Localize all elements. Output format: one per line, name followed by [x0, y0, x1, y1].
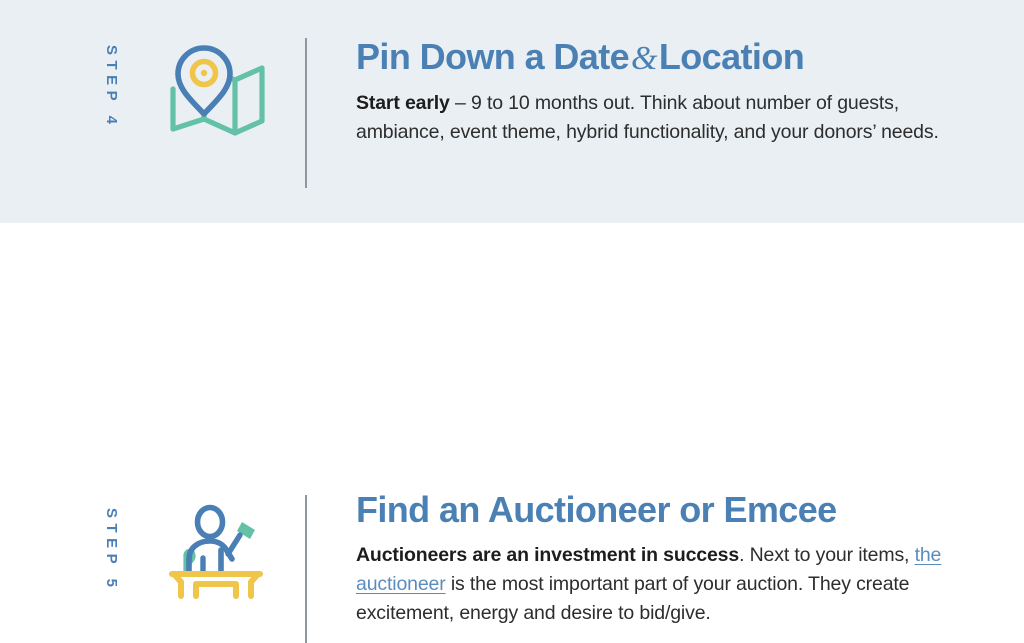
step-content-4: Pin Down a Date&Location Start early – 9… [356, 38, 956, 147]
step-body-5: Auctioneers are an investment in success… [356, 541, 956, 628]
step-label-4: STEP 4 [103, 45, 120, 129]
heading-text-part-2: Location [659, 36, 804, 77]
vertical-divider-5 [305, 495, 307, 643]
body-mid-5: . Next to your items, [739, 544, 915, 566]
vertical-divider-4 [305, 38, 307, 188]
heading-text-part-1: Find an Auctioneer or Emcee [356, 489, 837, 530]
auctioneer-at-podium-icon [160, 500, 272, 604]
step-section-5: STEP 5 [0, 223, 1024, 471]
map-pin-location-icon [160, 40, 272, 144]
infographic-page: STEP 4 Pin Down a Date&Location Start ea… [0, 0, 1024, 471]
step-body-4: Start early – 9 to 10 months out. Think … [356, 89, 956, 147]
heading-text-part-1: Pin Down a Date [356, 36, 629, 77]
step-content-5: Find an Auctioneer or Emcee Auctioneers … [356, 491, 956, 628]
body-lead-5: Auctioneers are an investment in success [356, 544, 739, 566]
heading-ampersand: & [629, 40, 659, 77]
step-heading-5: Find an Auctioneer or Emcee [356, 491, 956, 529]
step-label-5: STEP 5 [103, 508, 120, 592]
step-section-4: STEP 4 Pin Down a Date&Location Start ea… [0, 0, 1024, 223]
body-lead-4: Start early [356, 92, 450, 114]
step-heading-4: Pin Down a Date&Location [356, 38, 956, 77]
